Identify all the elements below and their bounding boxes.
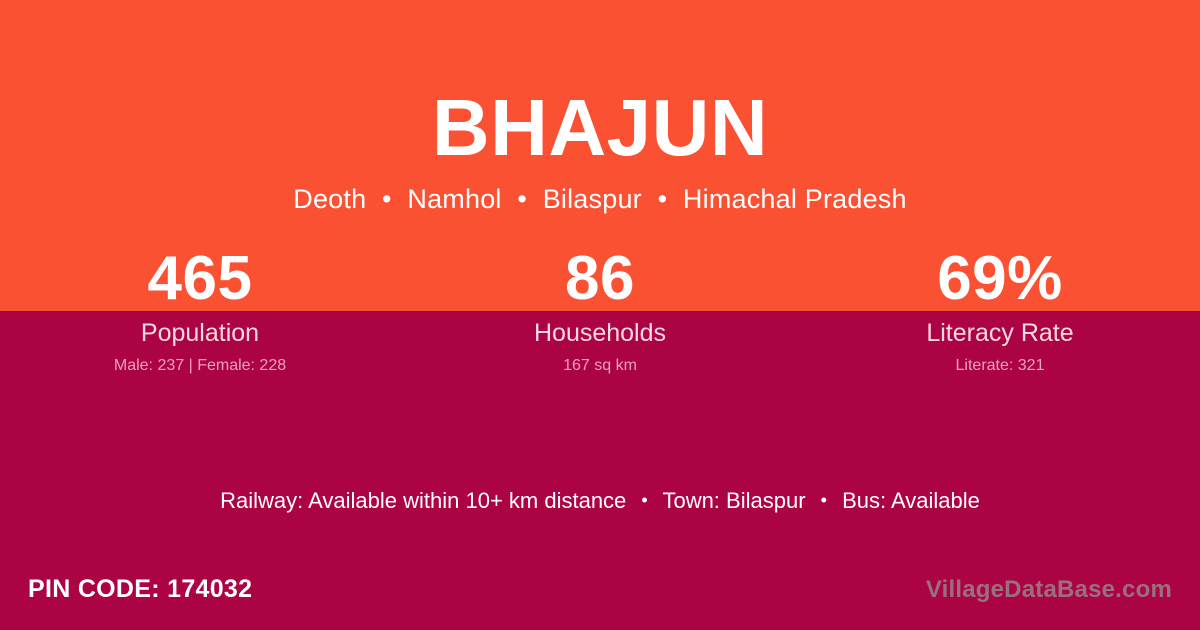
stat-sublabel: Literate: 321: [800, 356, 1200, 376]
stat-label: Literacy Rate: [800, 318, 1200, 348]
stat-households: 86 Households 167 sq km: [400, 248, 800, 376]
stat-sublabel: Male: 237 | Female: 228: [0, 356, 400, 376]
breadcrumb-item-0: Deoth: [293, 184, 366, 214]
breadcrumb-separator: •: [509, 182, 535, 216]
footer: PIN CODE: 174032 VillageDataBase.com: [0, 560, 1200, 630]
breadcrumb-item-2: Bilaspur: [543, 184, 642, 214]
stat-population: 465 Population Male: 237 | Female: 228: [0, 248, 400, 376]
amenity-railway: Railway: Available within 10+ km distanc…: [220, 488, 626, 513]
amenity-bus: Bus: Available: [842, 488, 980, 513]
stats-row: 465 Population Male: 237 | Female: 228 8…: [0, 248, 1200, 376]
amenity-separator: •: [632, 485, 656, 515]
stat-sublabel: 167 sq km: [400, 356, 800, 376]
breadcrumb: Deoth • Namhol • Bilaspur • Himachal Pra…: [0, 182, 1200, 216]
stat-label: Households: [400, 318, 800, 348]
village-info-card: BHAJUN Deoth • Namhol • Bilaspur • Himac…: [0, 0, 1200, 630]
page-title: BHAJUN: [0, 88, 1200, 168]
amenity-town: Town: Bilaspur: [662, 488, 805, 513]
amenities-line: Railway: Available within 10+ km distanc…: [0, 485, 1200, 516]
breadcrumb-separator: •: [374, 182, 400, 216]
stat-value: 86: [400, 248, 800, 310]
amenity-separator: •: [812, 485, 836, 515]
pin-code: PIN CODE: 174032: [28, 574, 252, 604]
breadcrumb-item-1: Namhol: [407, 184, 501, 214]
breadcrumb-separator: •: [650, 182, 676, 216]
breadcrumb-item-3: Himachal Pradesh: [683, 184, 907, 214]
stat-label: Population: [0, 318, 400, 348]
stat-value: 465: [0, 248, 400, 310]
stat-literacy-rate: 69% Literacy Rate Literate: 321: [800, 248, 1200, 376]
brand-watermark: VillageDataBase.com: [926, 575, 1172, 605]
stat-value: 69%: [800, 248, 1200, 310]
